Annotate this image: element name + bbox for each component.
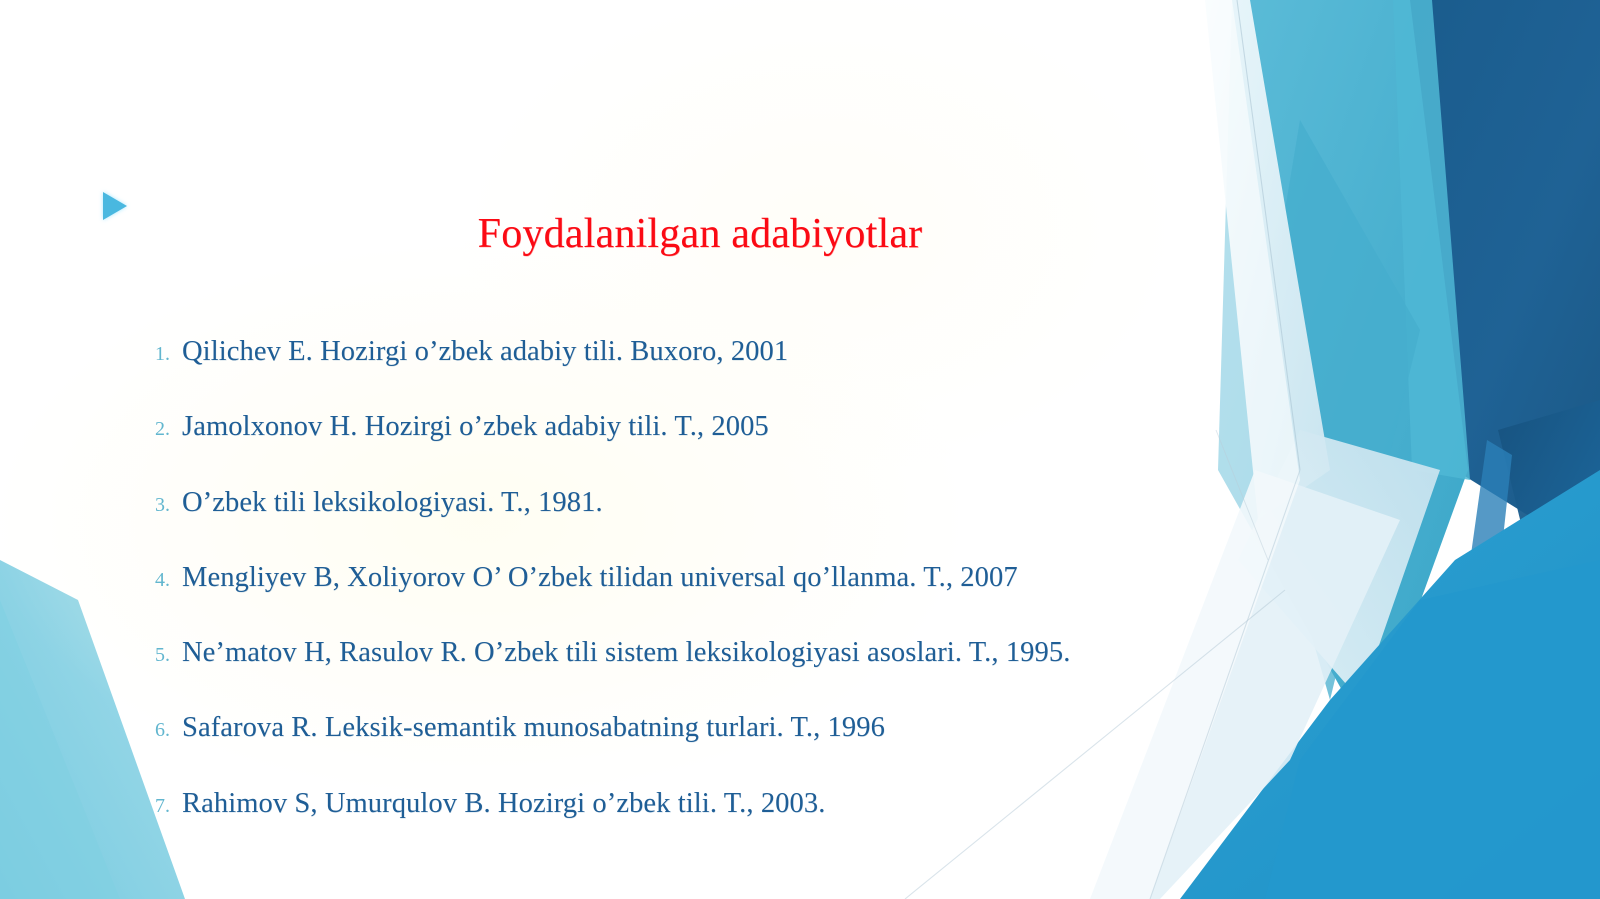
reference-item: 1. Qilichev E. Hozirgi o’zbek adabiy til… — [136, 338, 1316, 413]
reference-text: Qilichev E. Hozirgi o’zbek adabiy tili. … — [182, 338, 788, 367]
play-triangle-icon — [103, 192, 127, 220]
reference-number: 2. — [136, 419, 182, 439]
presentation-slide: Foydalanilgan adabiyotlar 1. Qilichev E.… — [0, 0, 1600, 899]
slide-content: Foydalanilgan adabiyotlar 1. Qilichev E.… — [0, 0, 1600, 899]
reference-item: 6. Safarova R. Leksik-semantik munosabat… — [136, 714, 1316, 789]
slide-title: Foydalanilgan adabiyotlar — [150, 210, 1250, 258]
reference-item: 3. O’zbek tili leksikologiyasi. T., 1981… — [136, 489, 1316, 564]
reference-item: 4. Mengliyev B, Xoliyorov O’ O’zbek tili… — [136, 564, 1316, 639]
reference-text: Safarova R. Leksik-semantik munosabatnin… — [182, 714, 885, 743]
reference-text: Ne’matov H, Rasulov R. O’zbek tili siste… — [182, 639, 1070, 668]
reference-text: O’zbek tili leksikologiyasi. T., 1981. — [182, 489, 603, 518]
reference-text: Mengliyev B, Xoliyorov O’ O’zbek tilidan… — [182, 564, 1018, 593]
reference-number: 3. — [136, 495, 182, 515]
reference-number: 1. — [136, 344, 182, 364]
reference-number: 6. — [136, 720, 182, 740]
reference-text: Jamolxonov H. Hozirgi o’zbek adabiy tili… — [182, 413, 769, 442]
reference-item: 2. Jamolxonov H. Hozirgi o’zbek adabiy t… — [136, 413, 1316, 488]
reference-text: Rahimov S, Umurqulov B. Hozirgi o’zbek t… — [182, 790, 825, 819]
reference-item: 7. Rahimov S, Umurqulov B. Hozirgi o’zbe… — [136, 790, 1316, 865]
reference-number: 7. — [136, 796, 182, 816]
references-list: 1. Qilichev E. Hozirgi o’zbek adabiy til… — [96, 338, 1316, 865]
reference-number: 4. — [136, 570, 182, 590]
reference-number: 5. — [136, 645, 182, 665]
reference-item: 5. Ne’matov H, Rasulov R. O’zbek tili si… — [136, 639, 1316, 714]
